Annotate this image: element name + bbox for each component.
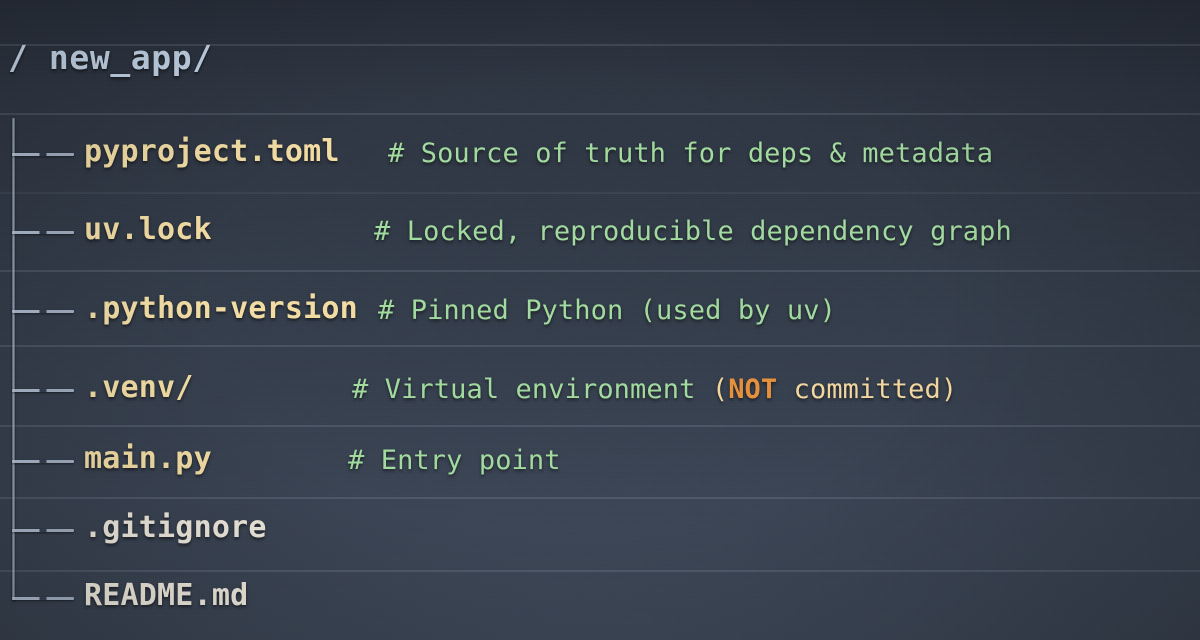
page-title: / new_app/: [8, 38, 213, 77]
tree-branch-connector-icon: [12, 529, 74, 532]
tree-row[interactable]: uv.lock# Locked, reproducible dependency…: [0, 194, 1200, 272]
file-comment: # Entry point: [348, 445, 561, 476]
file-name[interactable]: pyproject.toml: [84, 134, 340, 169]
file-name[interactable]: .venv/: [84, 370, 194, 405]
file-comment: # Virtual environment (NOT committed): [352, 374, 957, 405]
file-comment: # Pinned Python (used by uv): [378, 295, 836, 326]
comment-text: # Pinned Python (used by uv): [378, 295, 836, 326]
tree-branch-connector-icon: [12, 310, 74, 313]
file-name[interactable]: README.md: [84, 578, 248, 613]
diagram-canvas: / new_app/ pyproject.toml# Source of tru…: [0, 0, 1200, 640]
comment-emphasis-word: NOT: [728, 374, 777, 405]
tree-row[interactable]: main.py# Entry point: [0, 423, 1200, 501]
tree-row[interactable]: .gitignore: [0, 492, 1200, 570]
tree-elbow-connector-icon: [12, 597, 74, 600]
file-name[interactable]: .gitignore: [84, 510, 267, 545]
tree-branch-connector-icon: [12, 389, 74, 392]
comment-emphasis-rest: committed): [777, 374, 957, 405]
comment-text: # Locked, reproducible dependency graph: [374, 216, 1012, 247]
comment-text: # Virtual environment: [352, 374, 712, 405]
horizontal-rule: [0, 113, 1200, 115]
tree-row[interactable]: README.md: [0, 560, 1200, 638]
tree-branch-connector-icon: [12, 460, 74, 463]
comment-text: # Entry point: [348, 445, 561, 476]
file-name[interactable]: .python-version: [84, 291, 358, 326]
comment-text: # Source of truth for deps & metadata: [388, 138, 993, 169]
file-comment: # Locked, reproducible dependency graph: [374, 216, 1012, 247]
file-name[interactable]: uv.lock: [84, 212, 212, 247]
tree-row[interactable]: .python-version# Pinned Python (used by …: [0, 273, 1200, 351]
tree-branch-connector-icon: [12, 231, 74, 234]
file-comment: # Source of truth for deps & metadata: [388, 138, 993, 169]
tree-row[interactable]: pyproject.toml# Source of truth for deps…: [0, 116, 1200, 194]
comment-paren: (: [712, 374, 728, 405]
tree-row[interactable]: .venv/# Virtual environment (NOT committ…: [0, 352, 1200, 430]
file-name[interactable]: main.py: [84, 441, 212, 476]
tree-branch-connector-icon: [12, 153, 74, 156]
